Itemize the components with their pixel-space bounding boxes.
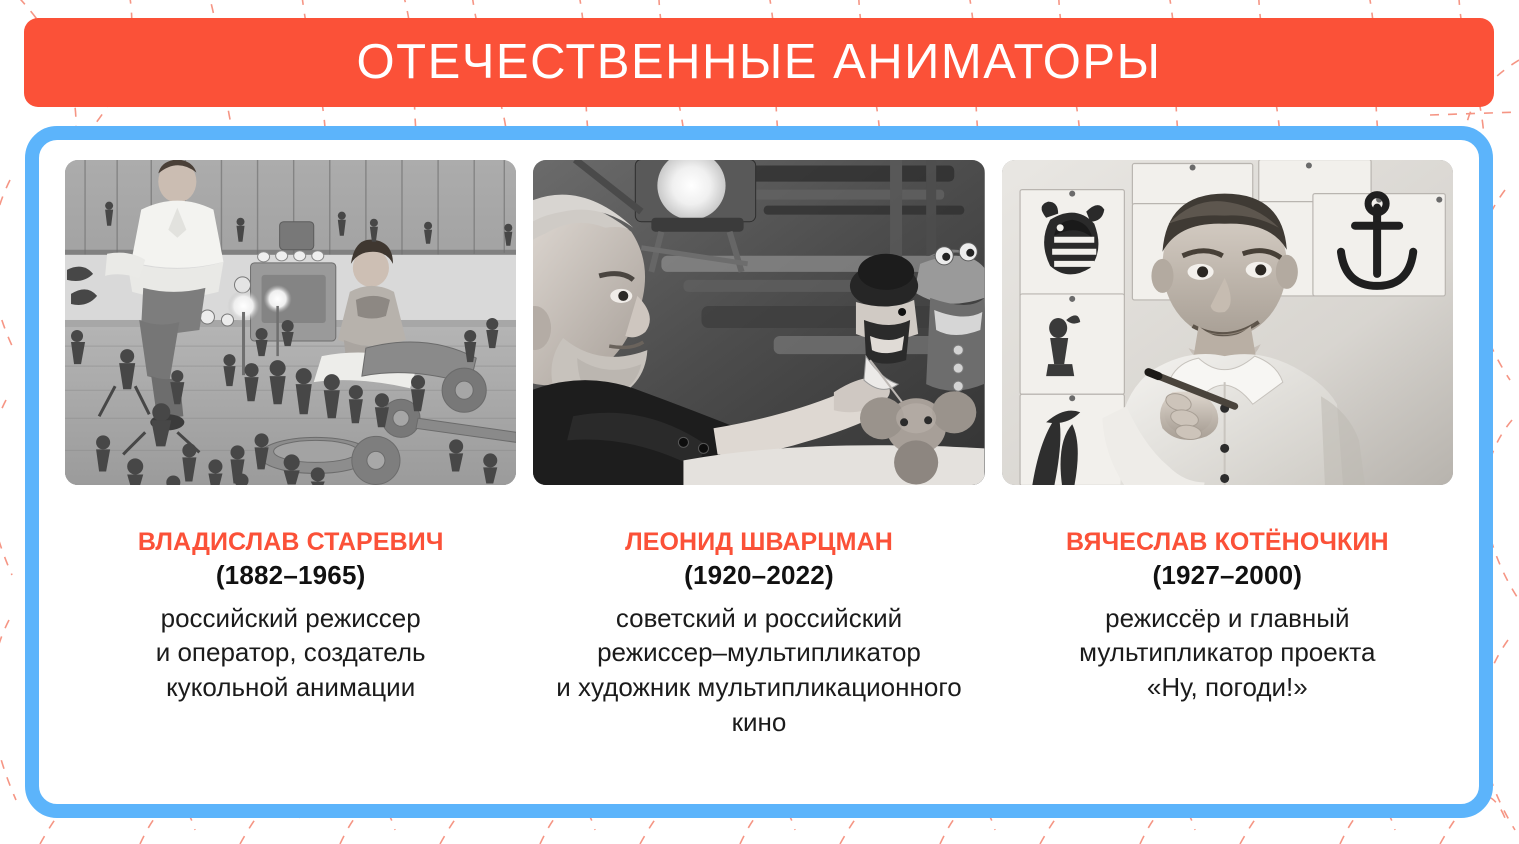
animator-text-3: ВЯЧЕСЛАВ КОТЁНОЧКИН (1927–2000) режиссёр… xyxy=(1002,527,1453,705)
photo-vladislav-starevich xyxy=(65,160,516,485)
animator-description: режиссёр и главный мультипликатор проект… xyxy=(1002,601,1453,705)
animator-dates: (1882–1965) xyxy=(65,559,516,592)
photo-vyacheslav-kotyonochkin xyxy=(1002,160,1453,485)
content-card: ВЛАДИСЛАВ СТАРЕВИЧ (1882–1965) российски… xyxy=(25,126,1493,818)
title-banner: ОТЕЧЕСТВЕННЫЕ АНИМАТОРЫ xyxy=(24,18,1494,107)
animator-text-2: ЛЕОНИД ШВАРЦМАН (1920–2022) советский и … xyxy=(533,527,984,739)
animator-description: российский режиссер и оператор, создател… xyxy=(65,601,516,705)
animator-text-1: ВЛАДИСЛАВ СТАРЕВИЧ (1882–1965) российски… xyxy=(65,527,516,705)
animators-grid: ВЛАДИСЛАВ СТАРЕВИЧ (1882–1965) российски… xyxy=(39,140,1479,804)
animator-name: ВЛАДИСЛАВ СТАРЕВИЧ xyxy=(65,527,516,559)
animator-name: ВЯЧЕСЛАВ КОТЁНОЧКИН xyxy=(1002,527,1453,559)
animator-card-1: ВЛАДИСЛАВ СТАРЕВИЧ (1882–1965) российски… xyxy=(65,160,516,804)
photo-leonid-shvartsman xyxy=(533,160,984,485)
page-title: ОТЕЧЕСТВЕННЫЕ АНИМАТОРЫ xyxy=(357,38,1162,87)
animator-name: ЛЕОНИД ШВАРЦМАН xyxy=(533,527,984,559)
animator-dates: (1920–2022) xyxy=(533,559,984,592)
animator-card-2: ЛЕОНИД ШВАРЦМАН (1920–2022) советский и … xyxy=(533,160,984,804)
animator-dates: (1927–2000) xyxy=(1002,559,1453,592)
animator-card-3: ВЯЧЕСЛАВ КОТЁНОЧКИН (1927–2000) режиссёр… xyxy=(1002,160,1453,804)
animator-description: советский и российский режиссер–мультипл… xyxy=(533,601,984,739)
